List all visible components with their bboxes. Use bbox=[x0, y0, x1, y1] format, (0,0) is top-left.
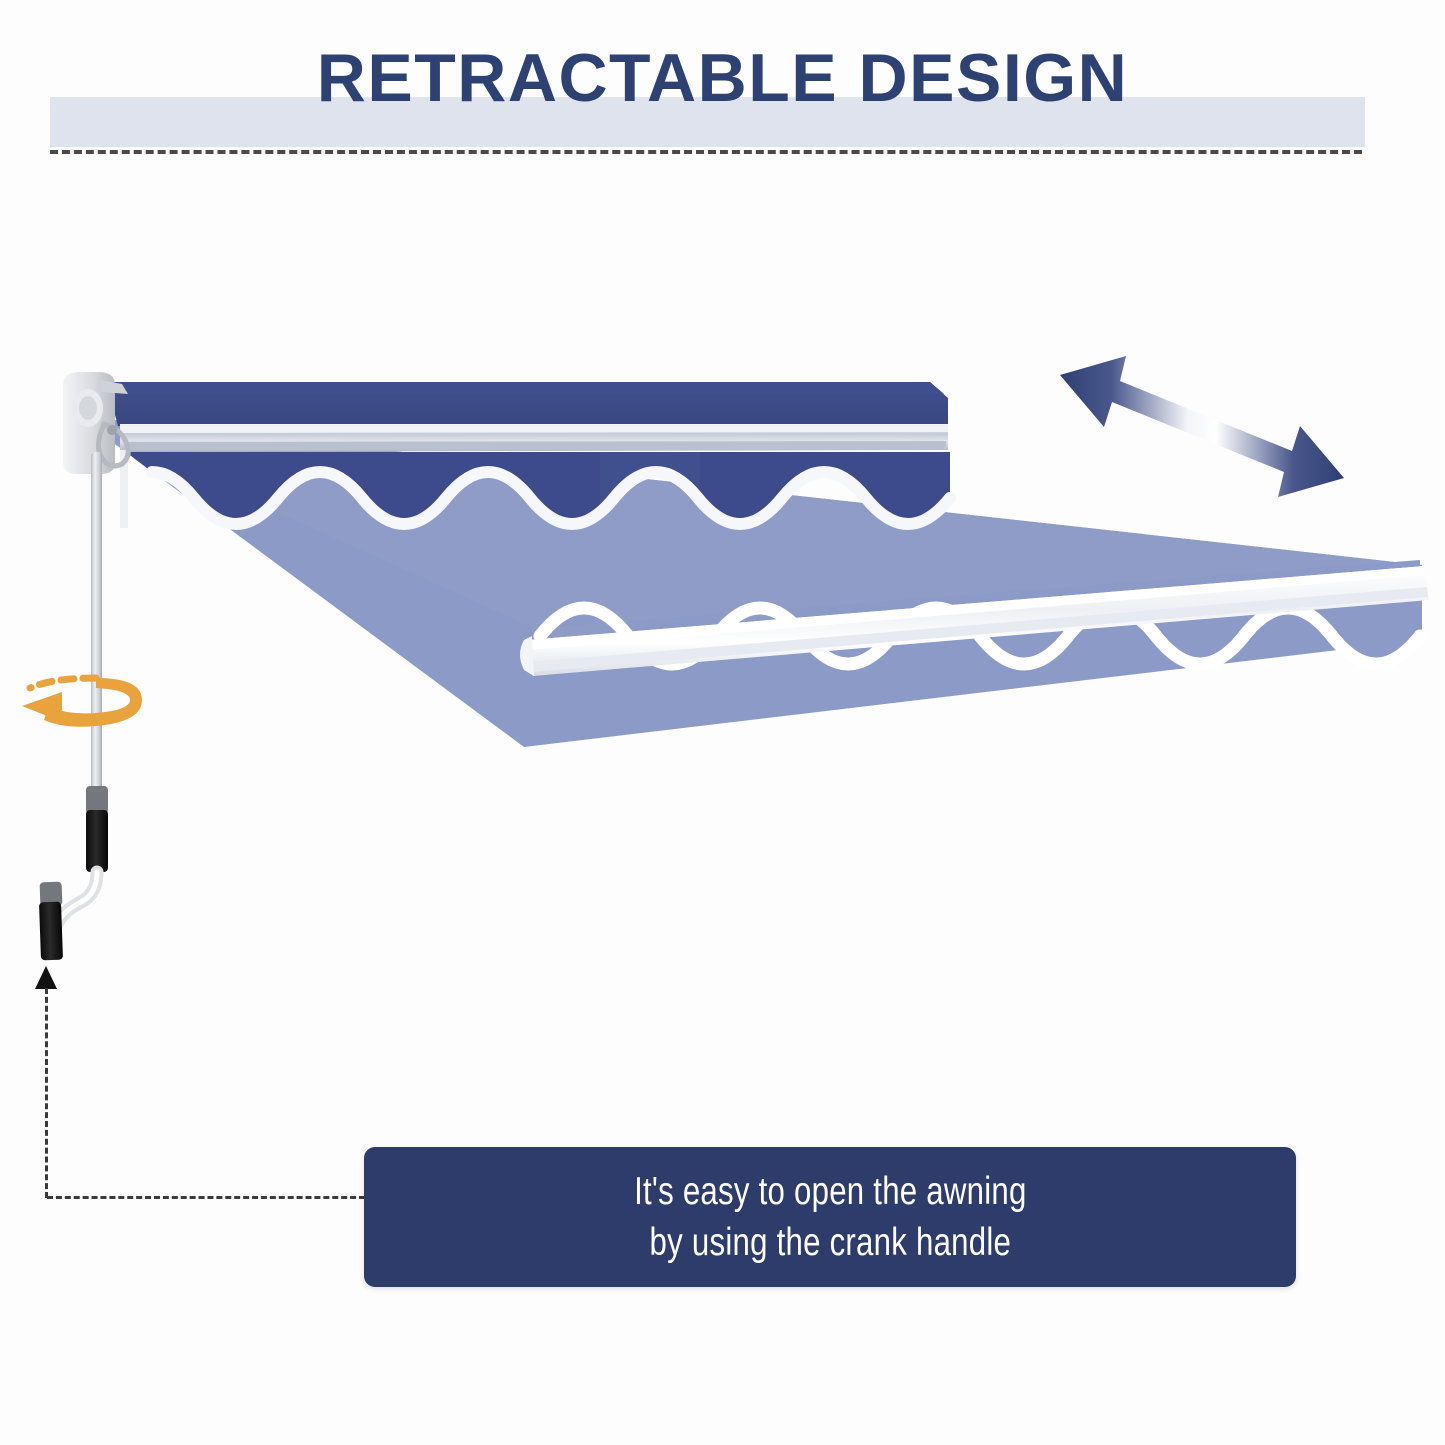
callout-leader-vertical bbox=[45, 988, 48, 1198]
crank-handle bbox=[39, 452, 108, 960]
callout-arrow-icon bbox=[35, 966, 57, 989]
double-arrow-icon bbox=[1060, 356, 1344, 497]
extended-awning bbox=[96, 418, 1440, 765]
extended-front-bar bbox=[528, 566, 1429, 676]
retracted-awning bbox=[106, 382, 956, 540]
caption-text: It's easy to open the awning by using th… bbox=[634, 1166, 1027, 1269]
infographic-canvas: RETRACTABLE DESIGN bbox=[0, 0, 1445, 1445]
header-divider bbox=[50, 150, 1362, 154]
retracted-front-bar bbox=[120, 424, 948, 452]
caption-box: It's easy to open the awning by using th… bbox=[364, 1147, 1296, 1287]
wall-mount-bracket bbox=[63, 372, 128, 474]
rotate-icon bbox=[22, 678, 142, 727]
page-title: RETRACTABLE DESIGN bbox=[0, 44, 1445, 112]
callout-leader-horizontal bbox=[47, 1196, 365, 1199]
